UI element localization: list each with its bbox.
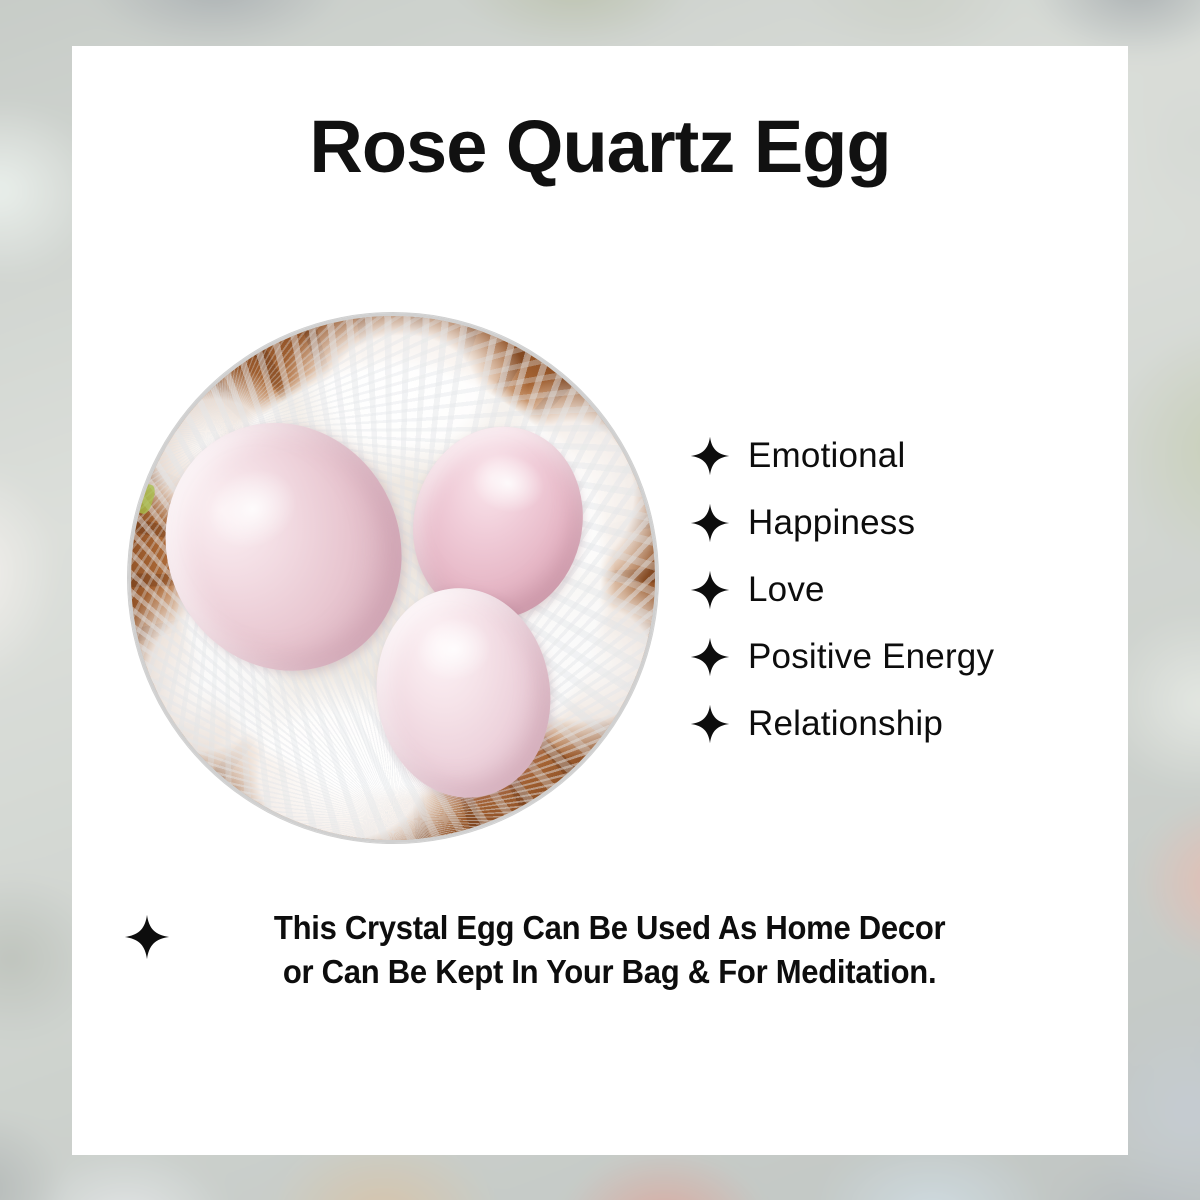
product-info-card: Rose Quartz Egg	[72, 46, 1128, 1155]
benefit-item-happiness: Happiness	[690, 489, 1110, 556]
usage-note-line-2: or Can Be Kept In Your Bag & For Meditat…	[196, 950, 1023, 994]
page-title: Rose Quartz Egg	[72, 104, 1128, 189]
benefit-item-emotional: Emotional	[690, 422, 1110, 489]
sparkle-star-icon	[690, 637, 730, 677]
rose-quartz-eggs-photo	[128, 313, 658, 843]
benefit-label: Love	[748, 570, 825, 610]
usage-note: This Crystal Egg Can Be Used As Home Dec…	[124, 906, 1076, 994]
usage-note-line-1: This Crystal Egg Can Be Used As Home Dec…	[196, 906, 1023, 950]
sparkle-star-icon	[690, 570, 730, 610]
sparkle-star-icon	[124, 914, 170, 960]
egg-highlight	[412, 614, 496, 687]
benefit-label: Relationship	[748, 704, 943, 744]
benefit-label: Emotional	[748, 436, 905, 476]
usage-note-text: This Crystal Egg Can Be Used As Home Dec…	[196, 906, 1023, 994]
egg-highlight	[194, 454, 311, 564]
benefit-item-love: Love	[690, 556, 1110, 623]
sparkle-star-icon	[690, 436, 730, 476]
benefit-list: Emotional Happiness Love	[690, 422, 1110, 757]
benefit-label: Positive Energy	[748, 637, 994, 677]
infographic-canvas: Rose Quartz Egg	[0, 0, 1200, 1200]
benefit-label: Happiness	[748, 503, 915, 543]
sparkle-star-icon	[690, 503, 730, 543]
sparkle-star-icon	[690, 704, 730, 744]
benefit-item-relationship: Relationship	[690, 690, 1110, 757]
egg-highlight	[465, 446, 551, 520]
benefit-item-positive-energy: Positive Energy	[690, 623, 1110, 690]
